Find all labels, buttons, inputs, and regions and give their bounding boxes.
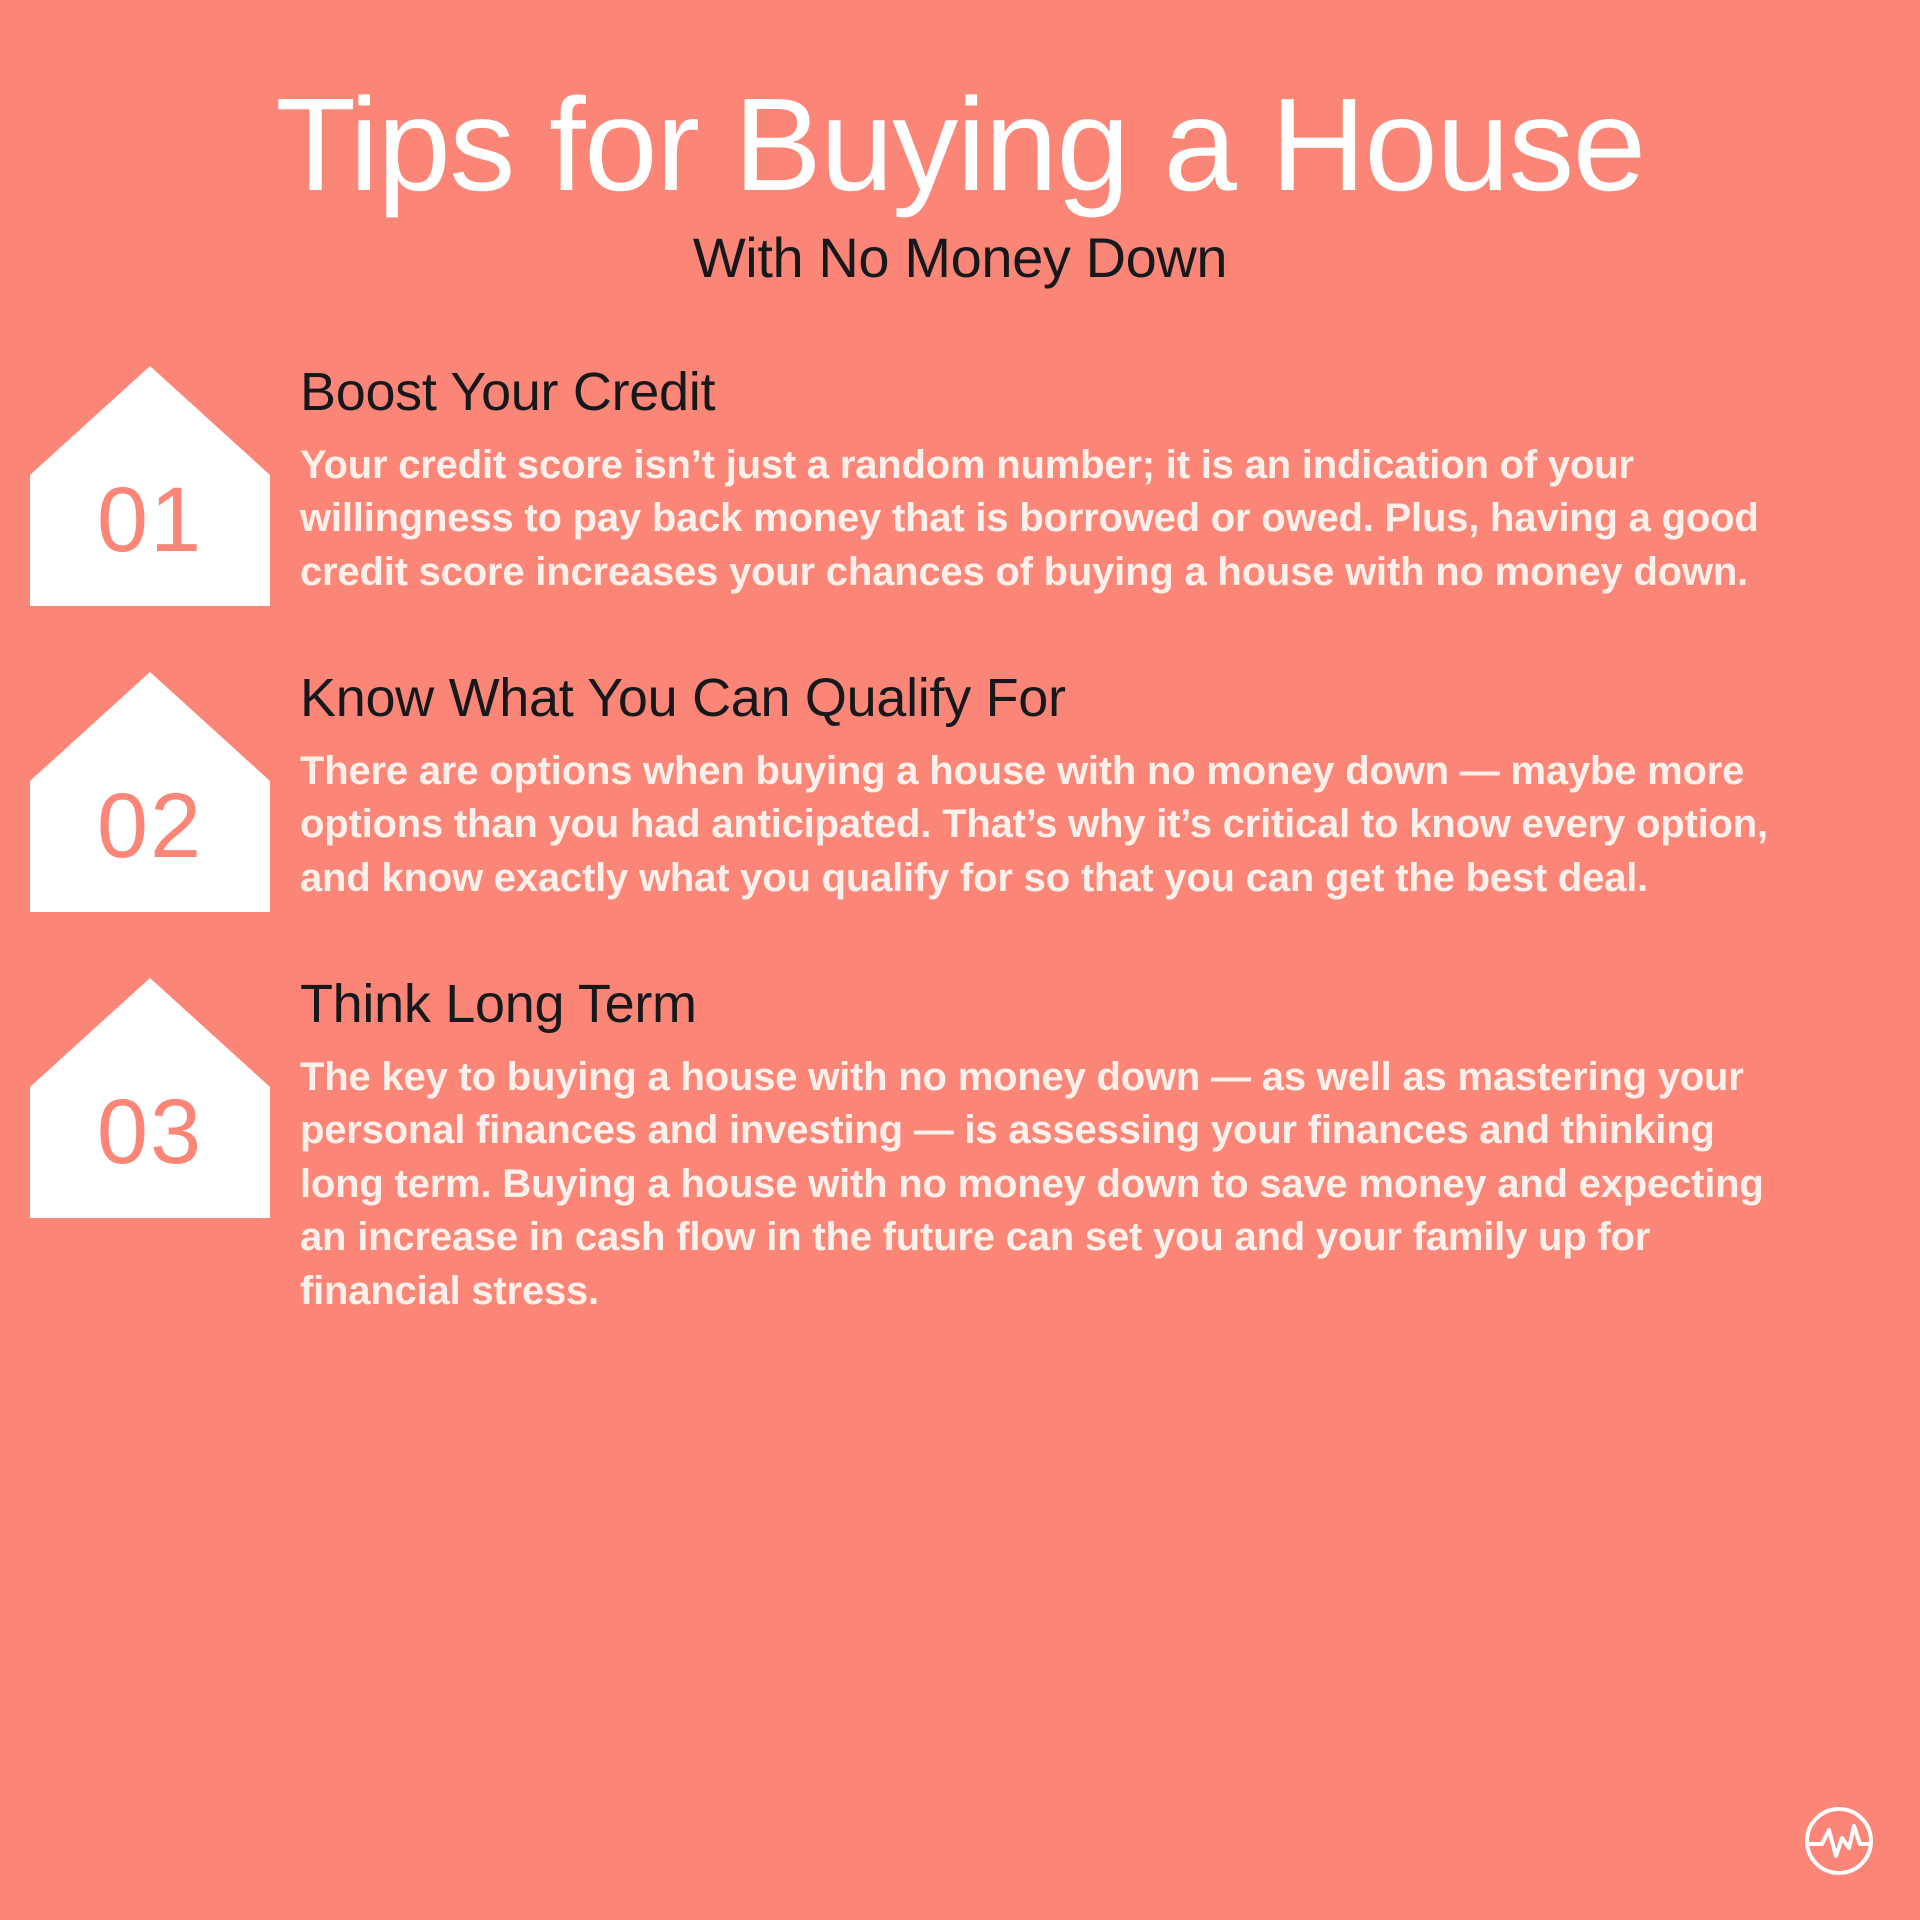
tips-list: 01 Boost Your Credit Your credit score i… bbox=[0, 356, 1920, 1318]
tip-item: 03 Think Long Term The key to buying a h… bbox=[0, 968, 1920, 1318]
header: Tips for Buying a House With No Money Do… bbox=[0, 0, 1920, 288]
tip-paragraph: Your credit score isn’t just a random nu… bbox=[300, 439, 1790, 600]
tip-badge-03: 03 bbox=[0, 968, 300, 1222]
tip-paragraph: There are options when buying a house wi… bbox=[300, 745, 1790, 906]
tip-badge-02: 02 bbox=[0, 662, 300, 916]
tip-paragraph: The key to buying a house with no money … bbox=[300, 1051, 1790, 1319]
infographic-poster: Tips for Buying a House With No Money Do… bbox=[0, 0, 1920, 1920]
house-icon: 02 bbox=[26, 668, 274, 916]
house-icon: 01 bbox=[26, 362, 274, 610]
page-subtitle: With No Money Down bbox=[0, 227, 1920, 289]
tip-number: 02 bbox=[26, 780, 274, 872]
tip-content: Think Long Term The key to buying a hous… bbox=[300, 968, 1920, 1318]
brand-logo-icon bbox=[1802, 1804, 1876, 1878]
tip-content: Know What You Can Qualify For There are … bbox=[300, 662, 1920, 905]
tip-badge-01: 01 bbox=[0, 356, 300, 610]
tip-heading: Boost Your Credit bbox=[300, 362, 1790, 422]
tip-content: Boost Your Credit Your credit score isn’… bbox=[300, 356, 1920, 599]
house-icon: 03 bbox=[26, 974, 274, 1222]
tip-heading: Think Long Term bbox=[300, 974, 1790, 1034]
tip-number: 03 bbox=[26, 1086, 274, 1178]
tip-item: 02 Know What You Can Qualify For There a… bbox=[0, 662, 1920, 916]
tip-heading: Know What You Can Qualify For bbox=[300, 668, 1790, 728]
page-title: Tips for Buying a House bbox=[0, 78, 1920, 213]
tip-number: 01 bbox=[26, 474, 274, 566]
tip-item: 01 Boost Your Credit Your credit score i… bbox=[0, 356, 1920, 610]
